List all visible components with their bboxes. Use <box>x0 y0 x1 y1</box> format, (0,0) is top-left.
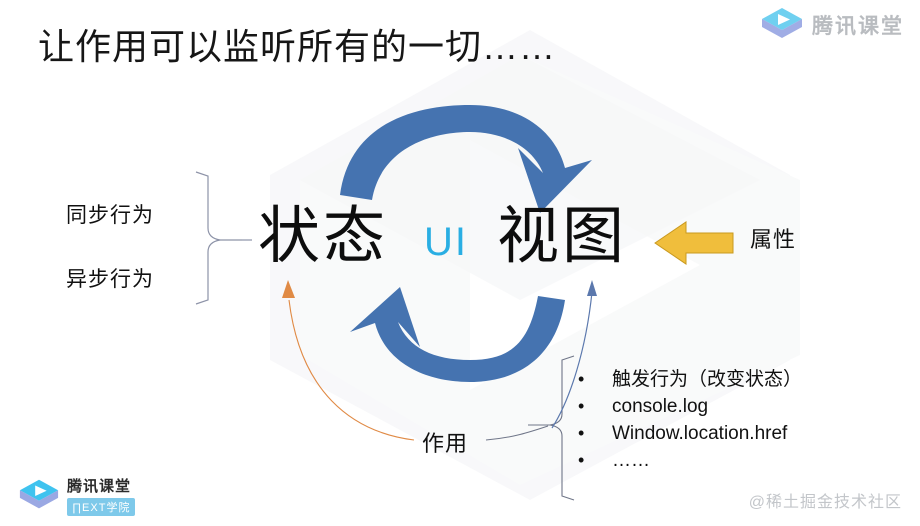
play-logo-icon <box>760 6 804 44</box>
bullet-marker: • <box>578 447 612 474</box>
play-logo-icon <box>18 476 60 516</box>
label-async-behavior: 异步行为 <box>66 268 154 292</box>
brand-bottom-sublabel: ∏EXT学院 <box>67 498 135 516</box>
label-sync-behavior: 同步行为 <box>66 204 154 228</box>
list-item: • 触发行为（改变状态） <box>578 366 802 393</box>
bullet-marker: • <box>578 366 612 393</box>
brand-bottom-label: 腾讯课堂 <box>67 475 135 496</box>
list-item: • Window.location.href <box>578 420 802 447</box>
bullet-label: Window.location.href <box>612 420 787 447</box>
center-word-view: 视图 <box>497 206 627 268</box>
slide-canvas: 让作用可以监听所有的一切…… 腾讯课堂 <box>0 0 920 526</box>
bullet-marker: • <box>578 420 612 447</box>
bullet-label: …… <box>612 447 650 474</box>
label-attribute: 属性 <box>750 228 796 252</box>
page-title: 让作用可以监听所有的一切…… <box>38 24 556 70</box>
label-effect: 作用 <box>422 432 468 456</box>
effect-to-state-arrow <box>282 280 414 440</box>
brand-top-right: 腾讯课堂 <box>760 6 904 44</box>
bullet-brace <box>528 356 574 500</box>
yellow-arrow-attribute <box>655 222 733 264</box>
brand-bottom-left: 腾讯课堂 ∏EXT学院 <box>18 475 135 516</box>
center-word-state: 状态 <box>258 206 388 268</box>
brand-top-label: 腾讯课堂 <box>812 10 904 40</box>
blue-arrow-top <box>340 105 592 213</box>
bullet-label: console.log <box>612 393 708 420</box>
blue-arrow-bottom <box>350 287 565 382</box>
center-word-ui: UI <box>424 222 468 262</box>
list-item: • console.log <box>578 393 802 420</box>
bullet-label: 触发行为（改变状态） <box>612 366 802 393</box>
bullet-list: • 触发行为（改变状态） • console.log • Window.loca… <box>578 366 802 474</box>
effect-to-bullets-curve <box>486 426 548 440</box>
list-item: • …… <box>578 447 802 474</box>
watermark-credit: @稀土掘金技术社区 <box>749 488 902 512</box>
bullet-marker: • <box>578 393 612 420</box>
left-brace <box>196 172 242 304</box>
